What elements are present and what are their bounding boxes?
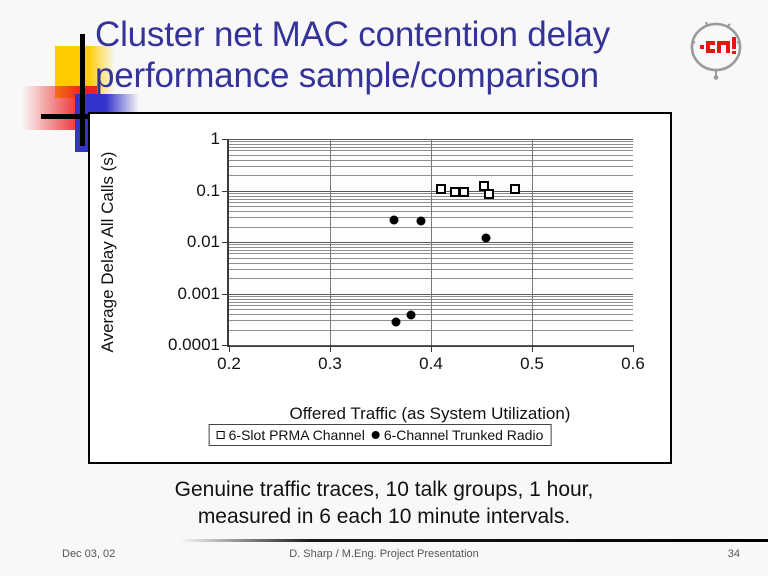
x-axis-title: Offered Traffic (as System Utilization) xyxy=(227,404,633,424)
x-axis-tick-label: 0.4 xyxy=(419,354,443,374)
x-axis-tick xyxy=(330,345,331,352)
legend-item-trunked: 6-Channel Trunked Radio xyxy=(372,427,544,443)
slide-caption: Genuine traffic traces, 10 talk groups, … xyxy=(0,476,768,530)
x-axis-tick-label: 0.6 xyxy=(621,354,645,374)
y-axis-tick-label: 0.01 xyxy=(187,232,220,252)
x-axis-tick-label: 0.5 xyxy=(520,354,544,374)
y-axis-tick xyxy=(222,191,229,192)
gridline-vertical xyxy=(532,139,533,345)
y-axis-tick-label: 0.1 xyxy=(196,181,220,201)
data-point-series-1 xyxy=(481,234,490,243)
x-axis-tick xyxy=(633,345,634,352)
data-point-series-0 xyxy=(459,187,469,197)
chart-container: Average Delay All Calls (s) Offered Traf… xyxy=(88,112,672,464)
chart-legend: 6-Slot PRMA Channel 6-Channel Trunked Ra… xyxy=(209,424,552,446)
y-axis-tick xyxy=(222,345,229,346)
legend-label-prma: 6-Slot PRMA Channel xyxy=(229,427,365,443)
filled-circle-marker-icon xyxy=(372,431,380,439)
slide-canvas: Cluster net MAC contention delay perform… xyxy=(0,0,768,576)
data-point-series-0 xyxy=(510,184,520,194)
x-axis-tick xyxy=(532,345,533,352)
data-point-series-0 xyxy=(484,189,494,199)
slide-title: Cluster net MAC contention delay perform… xyxy=(95,14,680,96)
x-axis-tick-label: 0.3 xyxy=(318,354,342,374)
cnl-logo-icon xyxy=(683,20,749,82)
y-axis-tick-label: 0.001 xyxy=(177,284,220,304)
y-axis-tick-label: 0.0001 xyxy=(168,335,220,355)
data-point-series-1 xyxy=(389,215,398,224)
x-axis-tick-label: 0.2 xyxy=(217,354,241,374)
legend-item-prma: 6-Slot PRMA Channel xyxy=(217,427,365,443)
y-axis-tick-label: 1 xyxy=(211,129,220,149)
y-axis-tick xyxy=(222,294,229,295)
footer-page-number: 34 xyxy=(0,548,740,560)
data-point-series-0 xyxy=(436,184,446,194)
x-axis-tick xyxy=(229,345,230,352)
open-square-marker-icon xyxy=(217,431,225,439)
y-axis-title: Average Delay All Calls (s) xyxy=(98,152,118,353)
footer-divider xyxy=(180,539,768,542)
x-axis-tick xyxy=(431,345,432,352)
gridline-vertical xyxy=(330,139,331,345)
motif-vertical-bar xyxy=(80,34,85,146)
data-point-series-1 xyxy=(416,217,425,226)
plot-area: 0.00010.0010.010.110.20.30.40.50.6 xyxy=(227,139,633,347)
data-point-series-1 xyxy=(391,318,400,327)
y-axis-tick xyxy=(222,139,229,140)
y-axis-tick xyxy=(222,242,229,243)
gridline-vertical xyxy=(431,139,432,345)
legend-label-trunked: 6-Channel Trunked Radio xyxy=(384,427,544,443)
data-point-series-1 xyxy=(406,311,415,320)
